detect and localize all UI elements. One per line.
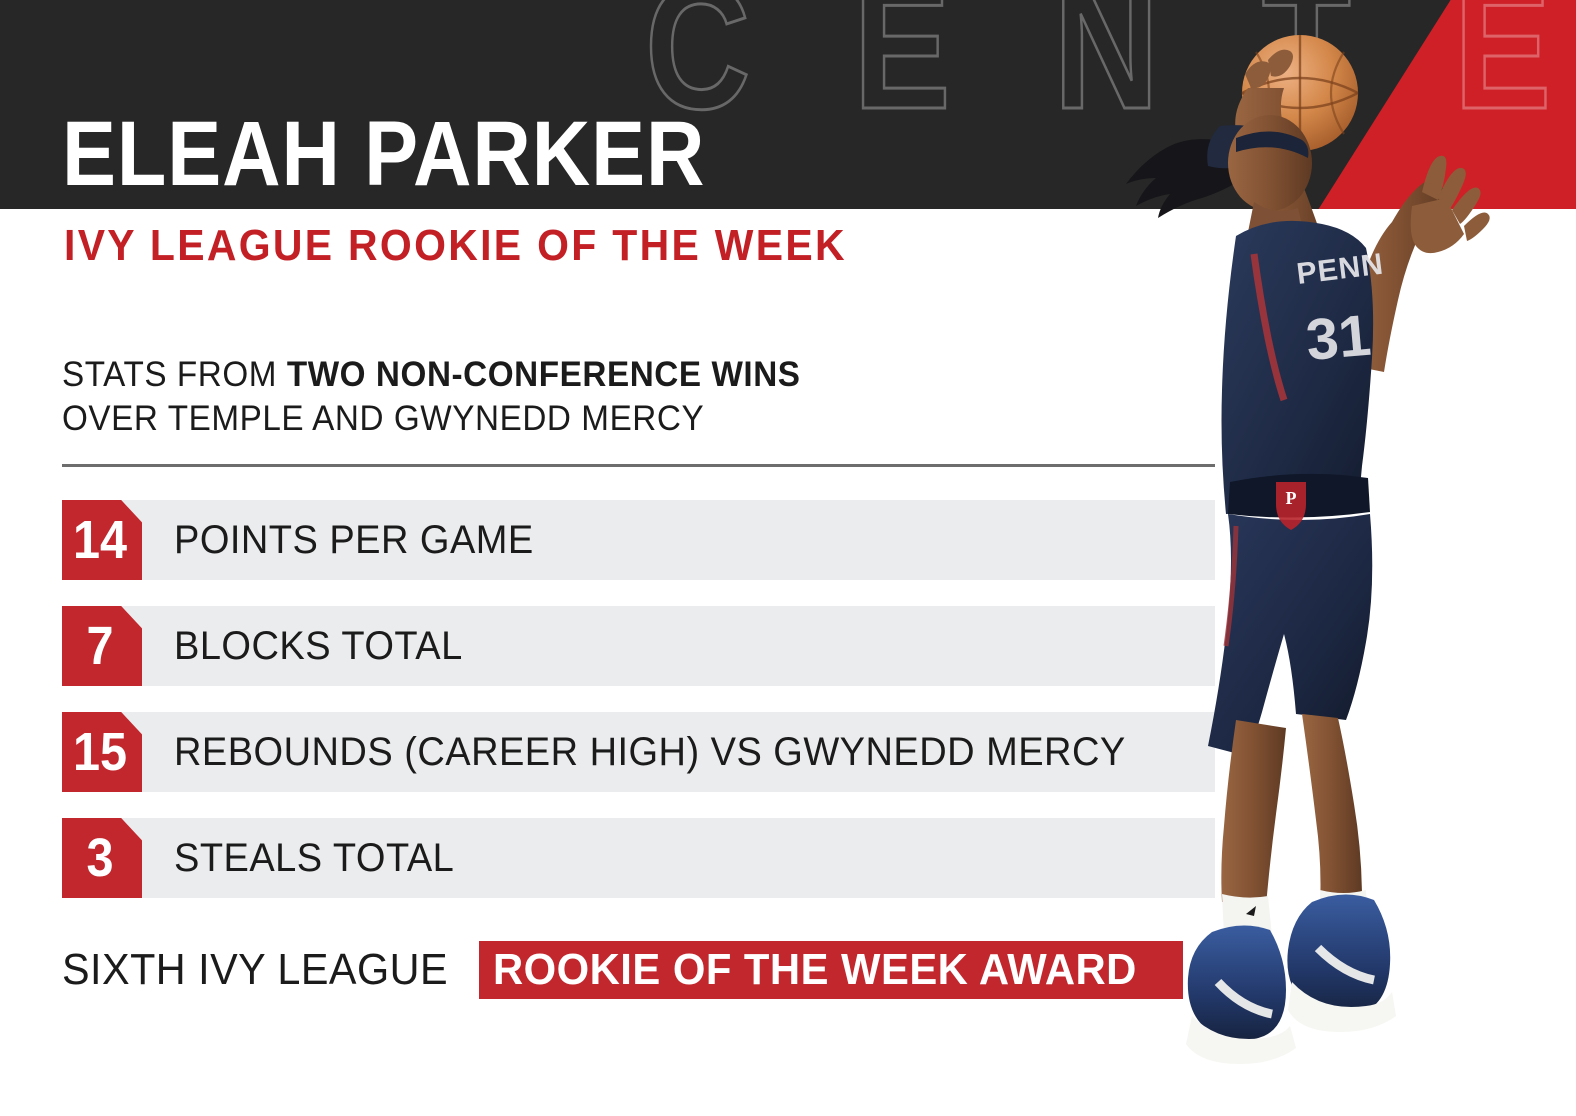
award-banner-label: ROOKIE OF THE WEEK AWARD — [493, 945, 1137, 995]
jersey-team-text: PENN — [1295, 248, 1386, 291]
infographic-root: C E N T E R ELEAH PARKER IVY LEAGUE ROOK… — [0, 0, 1576, 1116]
stat-value: 3 — [86, 827, 113, 889]
award-prefix-label: SIXTH IVY LEAGUE — [62, 945, 448, 995]
stat-label-text: REBOUNDS (CAREER HIGH) VS GWYNEDD MERCY — [174, 730, 1126, 775]
stat-label: STEALS TOTAL — [174, 818, 469, 898]
intro-line1-bold: TWO NON-CONFERENCE WINS — [287, 355, 801, 394]
stat-value-badge: 15 — [62, 712, 142, 792]
stat-label: POINTS PER GAME — [174, 500, 553, 580]
sock-right — [1320, 890, 1368, 933]
award-banner: ROOKIE OF THE WEEK AWARD — [479, 941, 1183, 999]
award-subtitle: IVY LEAGUE ROOKIE OF THE WEEK — [64, 224, 847, 268]
red-diagonal-wedge — [1246, 0, 1576, 209]
stat-value-badge: 3 — [62, 818, 142, 898]
leg-right — [1302, 714, 1362, 904]
stat-value: 14 — [73, 509, 127, 571]
shoe-right — [1287, 894, 1396, 1032]
header-band: C E N T E R ELEAH PARKER — [0, 0, 1576, 209]
stat-value-badge: 7 — [62, 606, 142, 686]
stat-label-text: POINTS PER GAME — [174, 518, 534, 563]
section-divider — [62, 464, 1215, 467]
sock-left — [1222, 894, 1272, 939]
intro-text: STATS FROM TWO NON-CONFERENCE WINS OVER … — [62, 353, 1012, 441]
intro-line1-plain: STATS FROM — [62, 355, 287, 394]
penn-shield-logo: P — [1276, 482, 1306, 530]
stat-value: 7 — [86, 615, 113, 677]
jersey — [1222, 221, 1374, 514]
stat-label: BLOCKS TOTAL — [174, 606, 478, 686]
award-prefix-text: SIXTH IVY LEAGUE — [62, 938, 473, 1002]
shorts — [1208, 514, 1372, 756]
intro-line2: OVER TEMPLE AND GWYNEDD MERCY — [62, 399, 704, 438]
leg-left — [1221, 720, 1286, 906]
jersey-number-text: 31 — [1303, 303, 1373, 373]
svg-text:P: P — [1286, 488, 1297, 508]
stat-label-text: STEALS TOTAL — [174, 836, 454, 881]
position-watermark-center: C E N T E R — [645, 0, 1432, 136]
stat-label-text: BLOCKS TOTAL — [174, 624, 463, 669]
stat-value: 15 — [73, 721, 127, 783]
stat-value-badge: 14 — [62, 500, 142, 580]
page-title: ELEAH PARKER — [62, 108, 705, 200]
stat-label: REBOUNDS (CAREER HIGH) VS GWYNEDD MERCY — [174, 712, 1176, 792]
shoe-left — [1186, 925, 1296, 1064]
